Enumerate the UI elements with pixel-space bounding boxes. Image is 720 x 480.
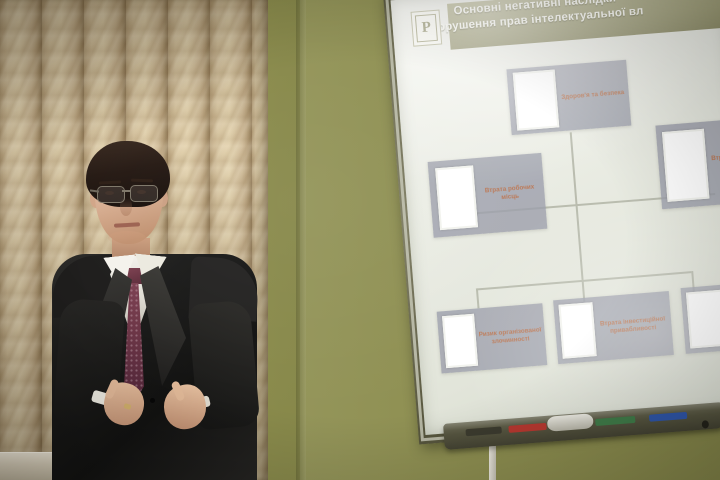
blind-slat — [42, 0, 84, 480]
diagram-node-bottom-right[interactable] — [681, 280, 720, 354]
presentation-photo-scene: Основні негативні наслідки порушення пра… — [0, 0, 720, 480]
marker-black-icon[interactable] — [465, 426, 501, 436]
diagram-node-bottom-left-label: Ризик організованої злочинності — [475, 326, 545, 348]
blinds-edge-shadow — [252, 0, 268, 480]
connector-vertical-center — [570, 132, 583, 280]
photo-building-icon — [662, 129, 709, 202]
diagram-node-left[interactable]: Втрата робочих місць — [428, 153, 548, 238]
diagram-node-right[interactable]: Втрати податкових доходів — [655, 116, 720, 209]
vertical-blinds — [0, 0, 268, 480]
photo-hand-icon — [513, 69, 560, 130]
projection-screen: Основні негативні наслідки порушення пра… — [391, 0, 720, 435]
diagram-node-bottom-middle[interactable]: Втрата інвестиційної привабливості — [553, 291, 674, 364]
photo-bottles-icon — [559, 302, 597, 359]
diagram-node-left-label: Втрата робочих місць — [475, 182, 545, 204]
diagram-node-top[interactable]: Здоров'я та безпека — [506, 60, 631, 135]
podium-table — [0, 452, 232, 480]
whiteboard-eraser-icon[interactable] — [547, 413, 594, 432]
podium-microphone-base — [136, 446, 147, 457]
marker-red-icon[interactable] — [508, 423, 546, 433]
diagram-node-bottom-middle-label: Втрата інвестиційної привабливості — [594, 314, 672, 337]
photo-document-icon — [435, 165, 478, 230]
blind-slat — [168, 0, 210, 480]
blind-slat — [84, 0, 126, 480]
photo-animal-icon — [686, 290, 720, 349]
marker-blue-icon[interactable] — [649, 412, 687, 422]
tray-mount-bolt — [702, 420, 710, 429]
diagram-node-bottom-left[interactable]: Ризик організованої злочинності — [437, 303, 548, 373]
connector-drop-left — [476, 288, 479, 308]
diagram-node-top-label: Здоров'я та безпека — [557, 88, 629, 102]
blind-slat — [126, 0, 168, 480]
diagram-node-right-label: Втрати податкових доходів — [706, 150, 720, 173]
blind-slat — [210, 0, 252, 480]
wall-corner-edge — [296, 0, 306, 480]
logo-letter-p: P — [415, 14, 438, 43]
photo-seal-icon — [442, 314, 478, 368]
whiteboard-frame: Основні негативні наслідки порушення пра… — [383, 0, 720, 445]
slide-logo: P — [411, 10, 443, 47]
blind-slat — [0, 0, 42, 480]
